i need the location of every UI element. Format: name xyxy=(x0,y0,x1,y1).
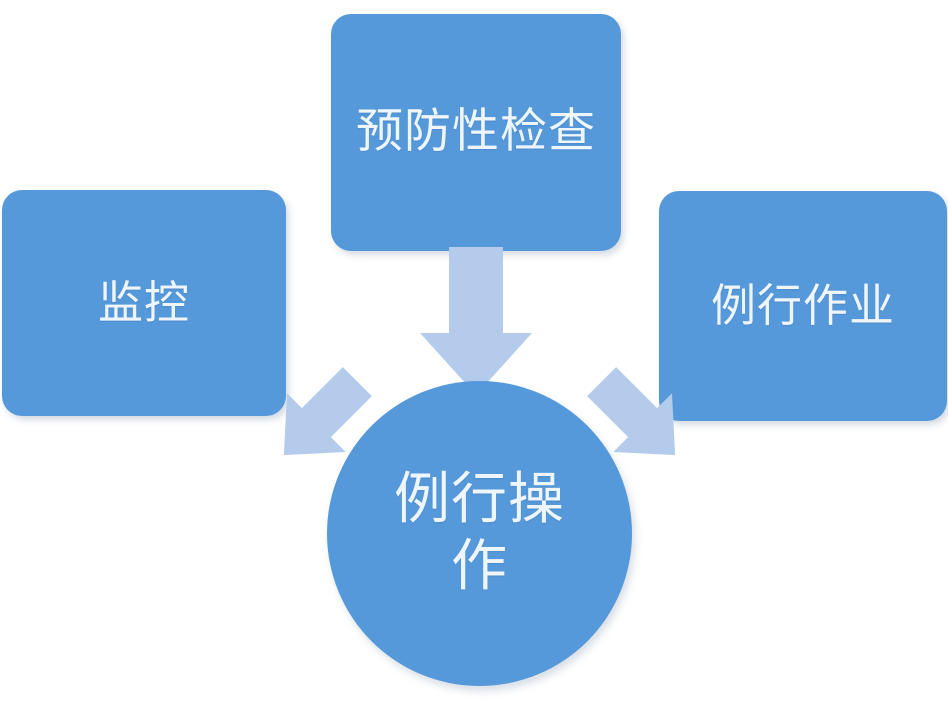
node-left-monitoring[interactable]: 监控 xyxy=(2,190,286,416)
node-center-label: 例行操 作 xyxy=(394,467,565,599)
node-right-routine-work[interactable]: 例行作业 xyxy=(659,191,947,421)
diagram-canvas: 预防性检查 监控 例行作业 例行操 作 xyxy=(0,0,948,705)
node-top-preventive-inspection[interactable]: 预防性检查 xyxy=(331,14,621,251)
node-right-label: 例行作业 xyxy=(711,281,895,331)
node-left-label: 监控 xyxy=(98,278,190,328)
node-top-label: 预防性检查 xyxy=(356,106,596,159)
arrow-down-icon xyxy=(420,247,532,395)
node-center-routine-operation[interactable]: 例行操 作 xyxy=(327,381,632,686)
